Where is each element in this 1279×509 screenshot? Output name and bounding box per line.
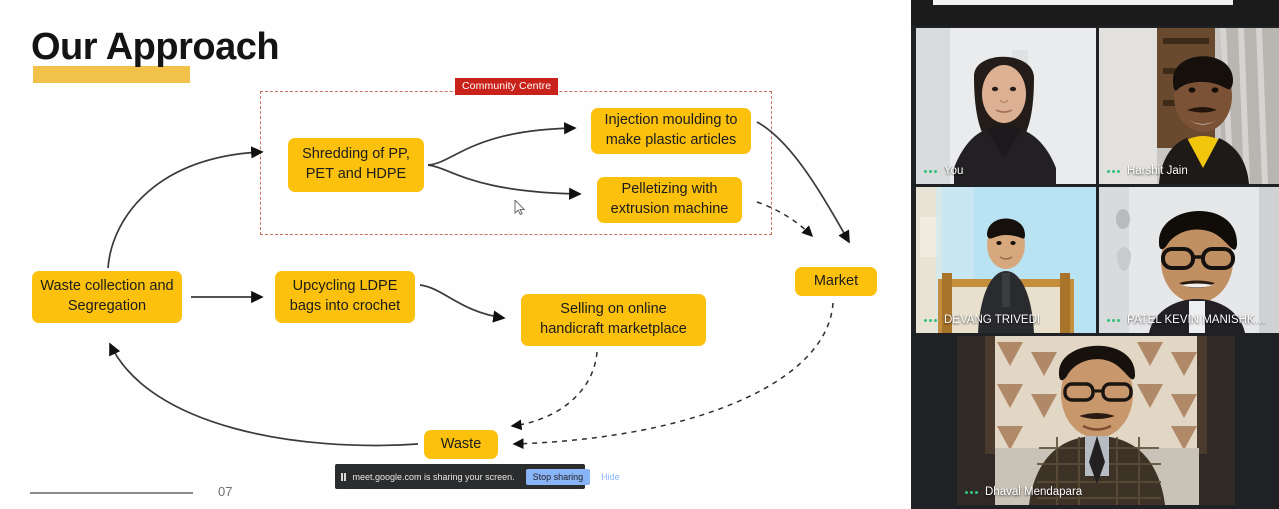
page-number: 07	[218, 484, 232, 499]
more-options-icon[interactable]	[924, 170, 937, 173]
title-highlight-bar	[33, 66, 190, 83]
node-upcycling[interactable]: Upcycling LDPE bags into crochet	[275, 271, 415, 323]
participant-name-bar: Dhaval Mendapara	[957, 479, 1235, 505]
screen-share-bar: meet.google.com is sharing your screen. …	[335, 464, 585, 489]
node-shredding[interactable]: Shredding of PP, PET and HDPE	[288, 138, 424, 192]
hide-button[interactable]: Hide	[601, 472, 620, 482]
node-pelletizing[interactable]: Pelletizing with extrusion machine	[597, 177, 742, 223]
more-options-icon[interactable]	[924, 319, 937, 322]
participant-name: DEVANG TRIVEDI	[944, 314, 1040, 326]
participant-name: Dhaval Mendapara	[985, 486, 1082, 498]
stop-sharing-button[interactable]: Stop sharing	[526, 469, 591, 485]
node-market[interactable]: Market	[795, 267, 877, 296]
panel-top-strip	[933, 0, 1233, 5]
participant-name-bar: Harshit Jain	[1099, 158, 1279, 184]
participant-tile-you[interactable]: You	[916, 28, 1096, 184]
share-message: meet.google.com is sharing your screen.	[353, 472, 515, 482]
mouse-cursor-icon	[514, 200, 526, 216]
screen: Our Approach Community Centre	[0, 0, 1279, 509]
community-centre-label: Community Centre	[455, 78, 558, 95]
participant-name-bar: DEVANG TRIVEDI	[916, 307, 1096, 333]
participant-name: Harshit Jain	[1127, 165, 1188, 177]
pause-icon	[341, 473, 346, 481]
participant-tile-dhaval-mendapara[interactable]: Dhaval Mendapara	[957, 336, 1235, 505]
more-options-icon[interactable]	[1107, 170, 1120, 173]
participant-name-bar: You	[916, 158, 1096, 184]
footer-rule	[30, 492, 193, 494]
participant-name-bar: PATEL KEVIN MANISHK…	[1099, 307, 1279, 333]
meet-participant-panel: You	[911, 0, 1279, 509]
participant-tile-devang-trivedi[interactable]: DEVANG TRIVEDI	[916, 187, 1096, 333]
shared-slide: Our Approach Community Centre	[0, 0, 911, 509]
participant-name: PATEL KEVIN MANISHK…	[1127, 314, 1266, 326]
panel-top-bar	[911, 0, 1279, 26]
participant-tile-harshit-jain[interactable]: Harshit Jain	[1099, 28, 1279, 184]
node-waste-collection[interactable]: Waste collection and Segregation	[32, 271, 182, 323]
participant-tile-patel-kevin[interactable]: PATEL KEVIN MANISHK…	[1099, 187, 1279, 333]
participant-name: You	[944, 165, 963, 177]
more-options-icon[interactable]	[965, 491, 978, 494]
more-options-icon[interactable]	[1107, 319, 1120, 322]
node-injection-moulding[interactable]: Injection moulding to make plastic artic…	[591, 108, 751, 154]
page-title: Our Approach	[31, 28, 279, 66]
node-waste[interactable]: Waste	[424, 430, 498, 459]
node-selling-online[interactable]: Selling on online handicraft marketplace	[521, 294, 706, 346]
